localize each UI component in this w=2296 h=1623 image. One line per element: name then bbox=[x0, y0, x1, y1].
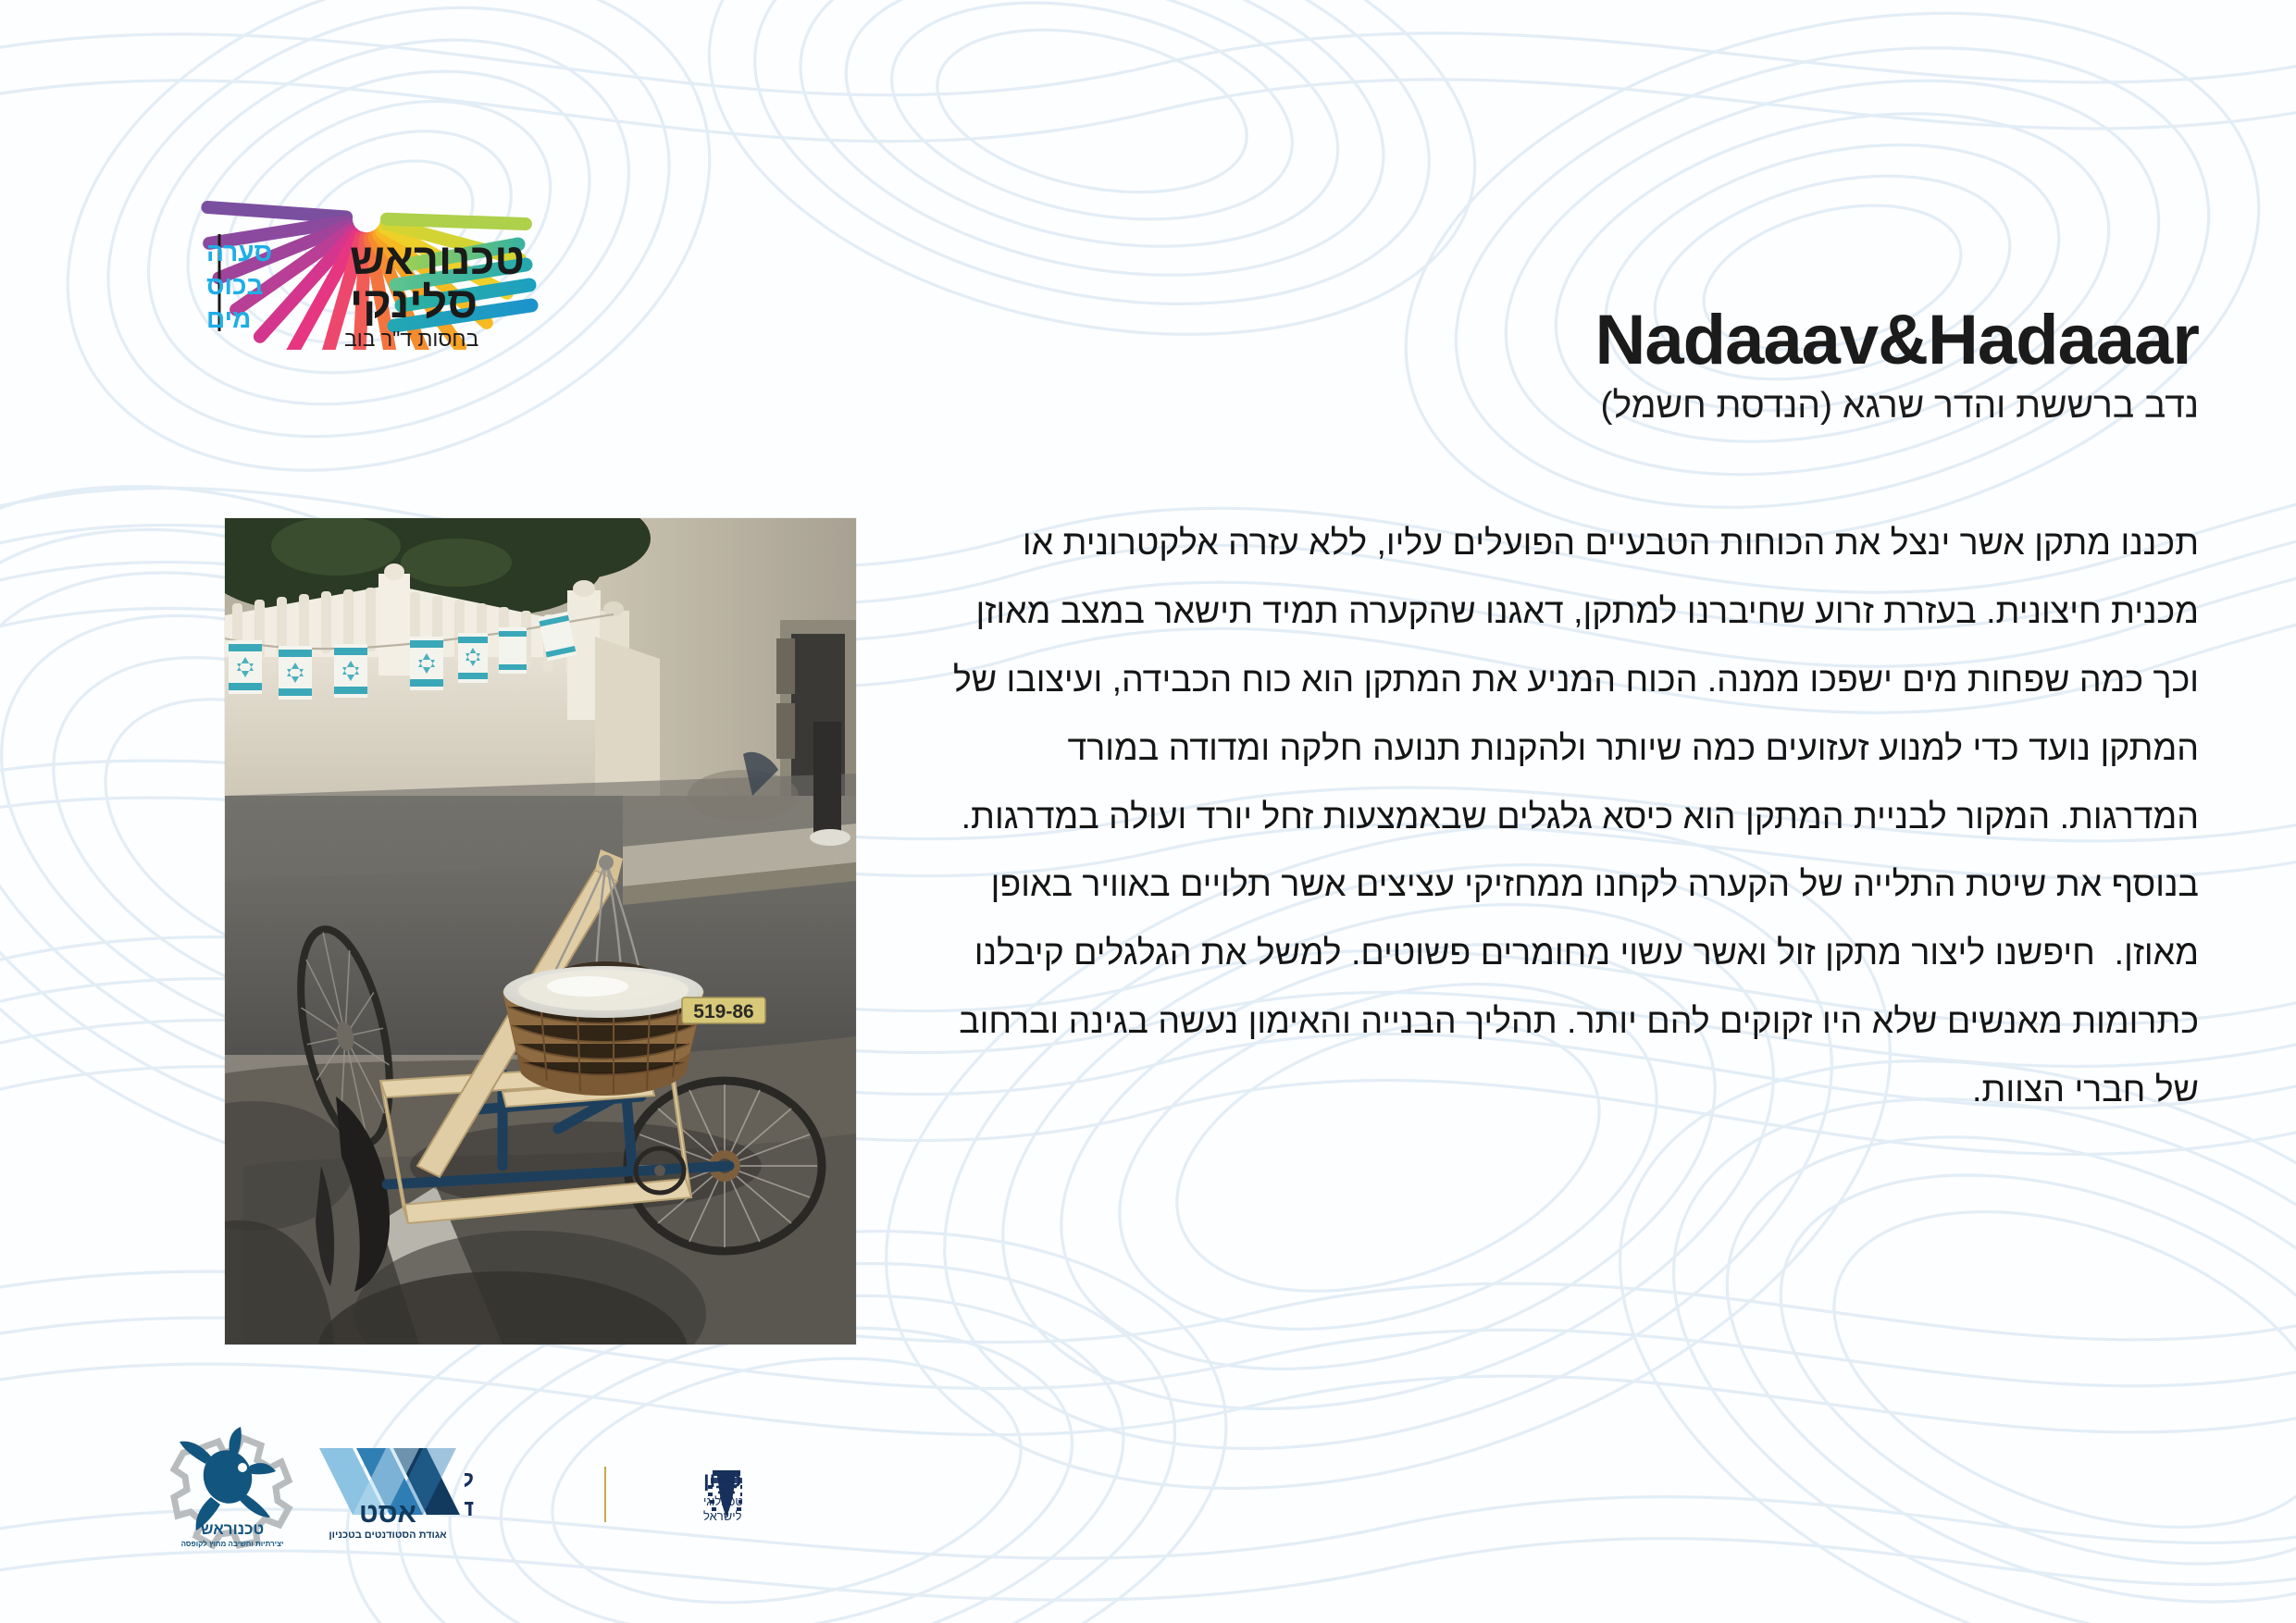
project-title: Nadaaav&Hadaaar bbox=[903, 305, 2199, 376]
asat-subtitle: אגודת הסטודנטים בטכניון bbox=[329, 1530, 447, 1541]
logo-patronage: בחסות ד"ר בוב bbox=[344, 327, 478, 350]
logo-technoraash-mascot: טכנוראש יצירתיות וחשיבה מחוץ לקופסה bbox=[170, 1425, 295, 1550]
technion-sub2: לישראל bbox=[703, 1509, 742, 1523]
logo-tagline-line1: סערה bbox=[206, 238, 272, 266]
project-photo: 519-86 bbox=[225, 518, 856, 1344]
logo-wordmark-line2: סלינקי bbox=[350, 278, 478, 327]
logo-tagline-line3: מים bbox=[206, 304, 251, 333]
water-basket bbox=[503, 966, 704, 1096]
project-description: תכננו מתקן אשר ינצל את הכוחות הטבעיים הפ… bbox=[945, 509, 2199, 1124]
asat-acronym: אסט bbox=[359, 1498, 416, 1529]
logo-dean-of-students: לשכת דיקן הסטודנטים הטכניון מכון טכנולוג… bbox=[465, 1430, 742, 1545]
technoraash-wordmark: טכנוראש bbox=[201, 1520, 264, 1538]
project-subtitle: נדב ברששת והדר שרגא (הנדסת חשמל) bbox=[903, 387, 2199, 427]
project-title-block: Nadaaav&Hadaaar נדב ברששת והדר שרגא (הנד… bbox=[903, 305, 2199, 427]
technoraash-slinky-logo: טכנוראש סלינקי בחסות ד"ר בוב סערה בכוס מ… bbox=[118, 72, 637, 350]
license-plate: 519-86 bbox=[682, 997, 765, 1023]
logo-asat: אסט אגודת הסטודנטים בטכניון bbox=[312, 1430, 465, 1545]
technoraash-tagline: יצירתיות וחשיבה מחוץ לקופסה bbox=[181, 1540, 284, 1548]
logo-tagline-line2: בכוס bbox=[206, 271, 263, 300]
logo-wordmark-line1: טכנוראש bbox=[350, 234, 525, 283]
license-plate-number: 519-86 bbox=[693, 1001, 753, 1022]
dean-line1: לשכת bbox=[465, 1467, 474, 1493]
poster-page: טכנוראש סלינקי בחסות ד"ר בוב סערה בכוס מ… bbox=[0, 0, 2296, 1623]
dean-line2: דיקן הסטודנטים bbox=[465, 1495, 474, 1521]
footer-logos: לשכת דיקן הסטודנטים הטכניון מכון טכנולוג… bbox=[157, 1430, 742, 1545]
